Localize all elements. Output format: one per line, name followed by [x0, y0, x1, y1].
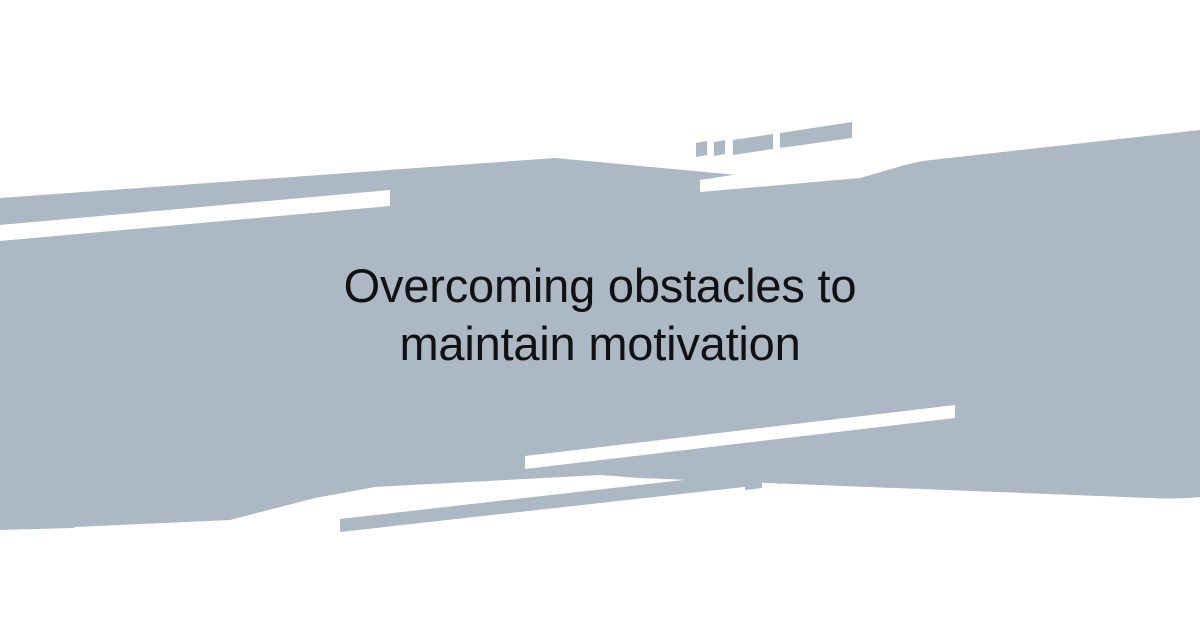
dash-mark-1 [696, 141, 707, 157]
dash-mark-2 [714, 140, 725, 156]
decorative-graphics-layer [0, 0, 1200, 630]
angular-banner-shape [0, 130, 1200, 530]
banner-card: Overcoming obstacles to maintain motivat… [0, 0, 1200, 630]
bar-stub-square [745, 475, 762, 490]
